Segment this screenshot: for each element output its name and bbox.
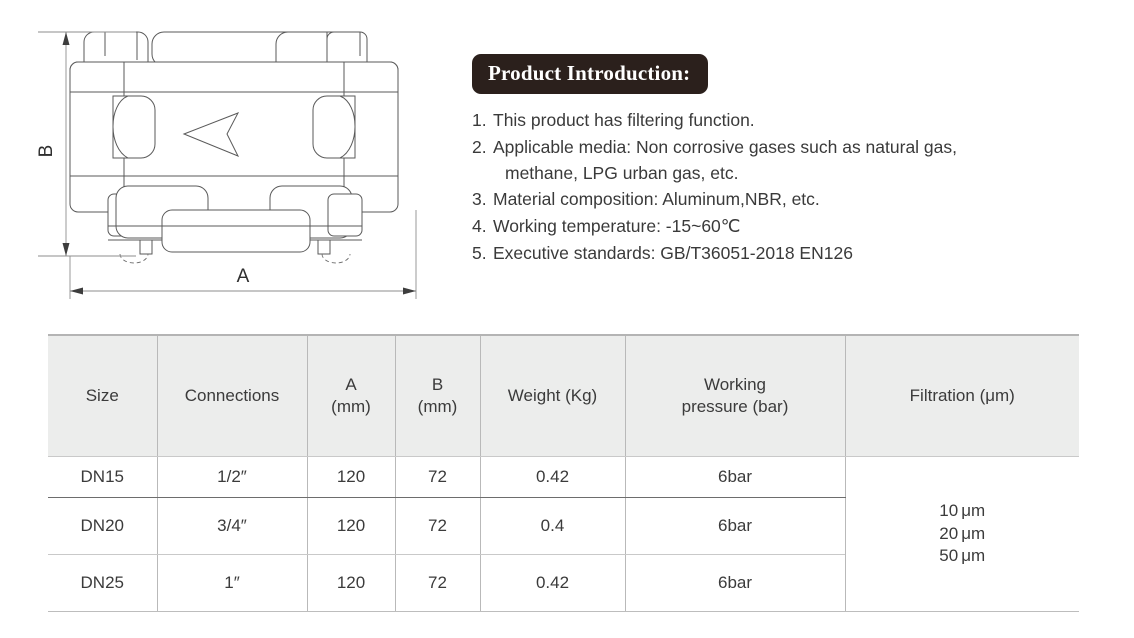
list-item: 3. Material composition: Aluminum,NBR, e…	[472, 187, 1122, 213]
cell-a: 120	[307, 498, 395, 555]
cell-b: 72	[395, 457, 480, 498]
column-header-working-pressure: Working pressure (bar)	[625, 335, 845, 457]
cell-a: 120	[307, 457, 395, 498]
list-item-number: 5.	[472, 241, 493, 267]
cell-weight: 0.4	[480, 498, 625, 555]
product-technical-drawing: .ln{fill:none;stroke:#5a5a5a;stroke-widt…	[16, 14, 456, 310]
dimension-b-label: B	[36, 145, 57, 158]
column-header-filtration: Filtration (μm)	[845, 335, 1079, 457]
dimension-a-label: A	[237, 266, 250, 287]
table-header-row: Size Connections A (mm) B (mm) Weight (K…	[48, 335, 1079, 457]
cell-b: 72	[395, 555, 480, 612]
specification-table: Size Connections A (mm) B (mm) Weight (K…	[48, 334, 1079, 612]
column-header-b: B (mm)	[395, 335, 480, 457]
cell-size: DN20	[48, 498, 157, 555]
list-item: 5. Executive standards: GB/T36051-2018 E…	[472, 241, 1122, 267]
list-item: 4. Working temperature: -15~60℃	[472, 214, 1122, 240]
list-item-text: Material composition: Aluminum,NBR, etc.	[493, 187, 1122, 213]
cell-working-pressure: 6bar	[625, 555, 845, 612]
table-header: Size Connections A (mm) B (mm) Weight (K…	[48, 335, 1079, 457]
list-item: 1. This product has filtering function.	[472, 108, 1122, 134]
table-body: DN15 1/2″ 120 72 0.42 6bar 10μm 20μm 50μ…	[48, 457, 1079, 612]
cell-weight: 0.42	[480, 457, 625, 498]
filtration-value-3: 50μm	[939, 546, 985, 565]
product-introduction-title: Product Introduction:	[472, 54, 708, 94]
list-item-text-line1: Applicable media: Non corrosive gases su…	[493, 137, 957, 157]
filtration-value-2: 20μm	[939, 524, 985, 543]
filtration-value-1: 10μm	[939, 501, 985, 520]
column-header-weight: Weight (Kg)	[480, 335, 625, 457]
cell-working-pressure: 6bar	[625, 457, 845, 498]
cell-connections: 1″	[157, 555, 307, 612]
column-header-connections: Connections	[157, 335, 307, 457]
list-item-number: 3.	[472, 187, 493, 213]
cell-b: 72	[395, 498, 480, 555]
cell-weight: 0.42	[480, 555, 625, 612]
cell-working-pressure: 6bar	[625, 498, 845, 555]
list-item-number: 1.	[472, 108, 493, 134]
product-spec-page: .ln{fill:none;stroke:#5a5a5a;stroke-widt…	[0, 0, 1134, 638]
column-header-a: A (mm)	[307, 335, 395, 457]
list-item-number: 4.	[472, 214, 493, 240]
list-item-text: Working temperature: -15~60℃	[493, 214, 1122, 240]
list-item-text-line2: methane, LPG urban gas, etc.	[493, 161, 1122, 187]
list-item-text: This product has filtering function.	[493, 108, 1122, 134]
cell-filtration: 10μm 20μm 50μm	[845, 457, 1079, 612]
cell-connections: 1/2″	[157, 457, 307, 498]
product-introduction-list: 1. This product has filtering function. …	[472, 108, 1122, 266]
table-row: DN15 1/2″ 120 72 0.42 6bar 10μm 20μm 50μ…	[48, 457, 1079, 498]
list-item: 2. Applicable media: Non corrosive gases…	[472, 135, 1122, 186]
list-item-number: 2.	[472, 135, 493, 161]
column-header-size: Size	[48, 335, 157, 457]
list-item-text: Applicable media: Non corrosive gases su…	[493, 135, 1122, 186]
cell-size: DN15	[48, 457, 157, 498]
cell-size: DN25	[48, 555, 157, 612]
list-item-text: Executive standards: GB/T36051-2018 EN12…	[493, 241, 1122, 267]
cell-a: 120	[307, 555, 395, 612]
cell-connections: 3/4″	[157, 498, 307, 555]
product-introduction-panel: Product Introduction: 1. This product ha…	[472, 54, 1122, 267]
